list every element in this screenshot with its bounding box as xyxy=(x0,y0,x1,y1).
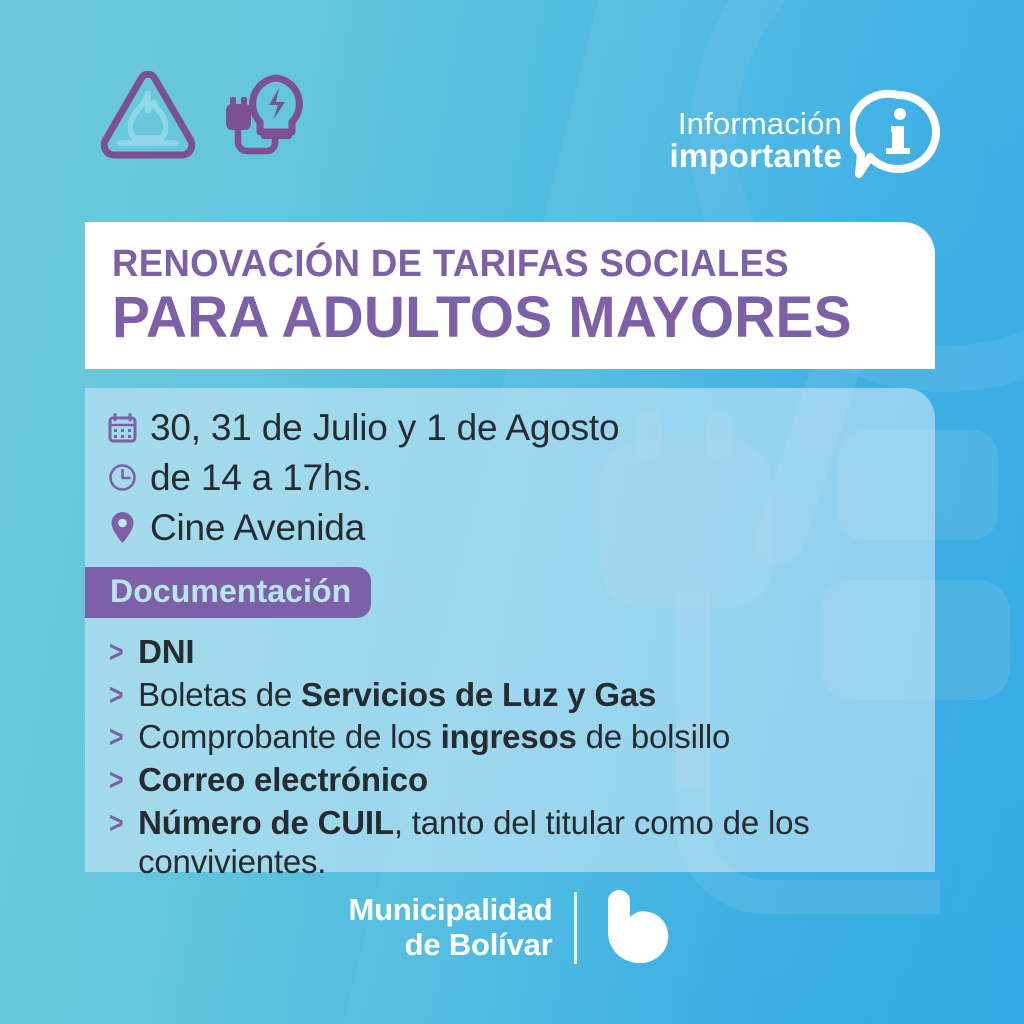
info-badge: Información importante xyxy=(669,88,946,193)
title-line-1: RENOVACIÓN DE TARIFAS SOCIALES xyxy=(112,244,902,284)
footer-logo: Municipalidad de Bolívar xyxy=(0,883,1024,972)
event-time-text: de 14 a 17hs. xyxy=(150,457,372,499)
doc-item-regular-2a: Boletas de xyxy=(138,676,301,713)
chevron-right-icon: > xyxy=(109,632,123,672)
details-panel: 30, 31 de Julio y 1 de Agosto de 14 a 17… xyxy=(85,388,935,872)
title-card: RENOVACIÓN DE TARIFAS SOCIALES PARA ADUL… xyxy=(85,222,935,369)
list-item: > Comprobante de los ingresos de bolsill… xyxy=(109,717,935,757)
doc-item-bold-4: Correo electrónico xyxy=(138,761,428,798)
event-location-row: Cine Avenida xyxy=(107,504,935,551)
doc-item-bold-1: DNI xyxy=(138,633,194,670)
bolivar-b-logo-icon xyxy=(598,883,676,972)
lightbulb-plug-icon xyxy=(214,68,312,169)
municipality-wordmark: Municipalidad de Bolívar xyxy=(348,893,552,962)
clock-icon xyxy=(107,461,137,495)
doc-item-regular-3b: de bolsillo xyxy=(577,718,731,755)
list-item: > Número de CUIL, tanto del titular como… xyxy=(109,803,935,882)
list-item: > Correo electrónico xyxy=(109,760,935,800)
doc-item-text-2: Boletas de Servicios de Luz y Gas xyxy=(138,675,656,715)
info-badge-line1: Información xyxy=(678,108,842,140)
documentation-badge: Documentación xyxy=(85,567,371,618)
doc-item-regular-3a: Comprobante de los xyxy=(138,718,441,755)
utility-icon-row xyxy=(100,68,312,169)
doc-item-text-1: DNI xyxy=(138,632,194,672)
poster-root: Información importante RENOVACIÓN DE TAR… xyxy=(0,0,1024,1024)
doc-item-text-3: Comprobante de los ingresos de bolsillo xyxy=(138,717,730,757)
calendar-icon xyxy=(107,411,137,445)
list-item: > Boletas de Servicios de Luz y Gas xyxy=(109,675,935,715)
event-time-row: de 14 a 17hs. xyxy=(107,454,935,501)
info-badge-line2: importante xyxy=(669,139,842,173)
documentation-list: > DNI > Boletas de Servicios de Luz y Ga… xyxy=(109,632,935,882)
title-line-2: PARA ADULTOS MAYORES xyxy=(112,286,919,350)
event-date-row: 30, 31 de Julio y 1 de Agosto xyxy=(107,404,935,451)
chevron-right-icon: > xyxy=(109,760,123,800)
doc-item-text-4: Correo electrónico xyxy=(138,760,428,800)
municipality-line1: Municipalidad xyxy=(348,893,552,928)
info-badge-text: Información importante xyxy=(669,108,842,173)
chevron-right-icon: > xyxy=(109,803,123,843)
chevron-right-icon: > xyxy=(109,675,123,715)
gas-flame-warning-icon xyxy=(100,70,196,167)
event-date-text: 30, 31 de Julio y 1 de Agosto xyxy=(150,407,619,449)
doc-item-bold-5: Número de CUIL xyxy=(138,804,394,841)
event-location-text: Cine Avenida xyxy=(150,507,365,549)
location-pin-icon xyxy=(107,511,137,545)
list-item: > DNI xyxy=(109,632,935,672)
info-speech-bubble-icon xyxy=(850,88,946,193)
doc-item-bold-3: ingresos xyxy=(441,718,577,755)
doc-item-bold-2: Servicios de Luz y Gas xyxy=(301,676,656,713)
chevron-right-icon: > xyxy=(109,717,123,757)
doc-item-text-5: Número de CUIL, tanto del titular como d… xyxy=(138,803,908,882)
municipality-line2: de Bolívar xyxy=(405,928,553,963)
logo-divider xyxy=(574,892,577,964)
